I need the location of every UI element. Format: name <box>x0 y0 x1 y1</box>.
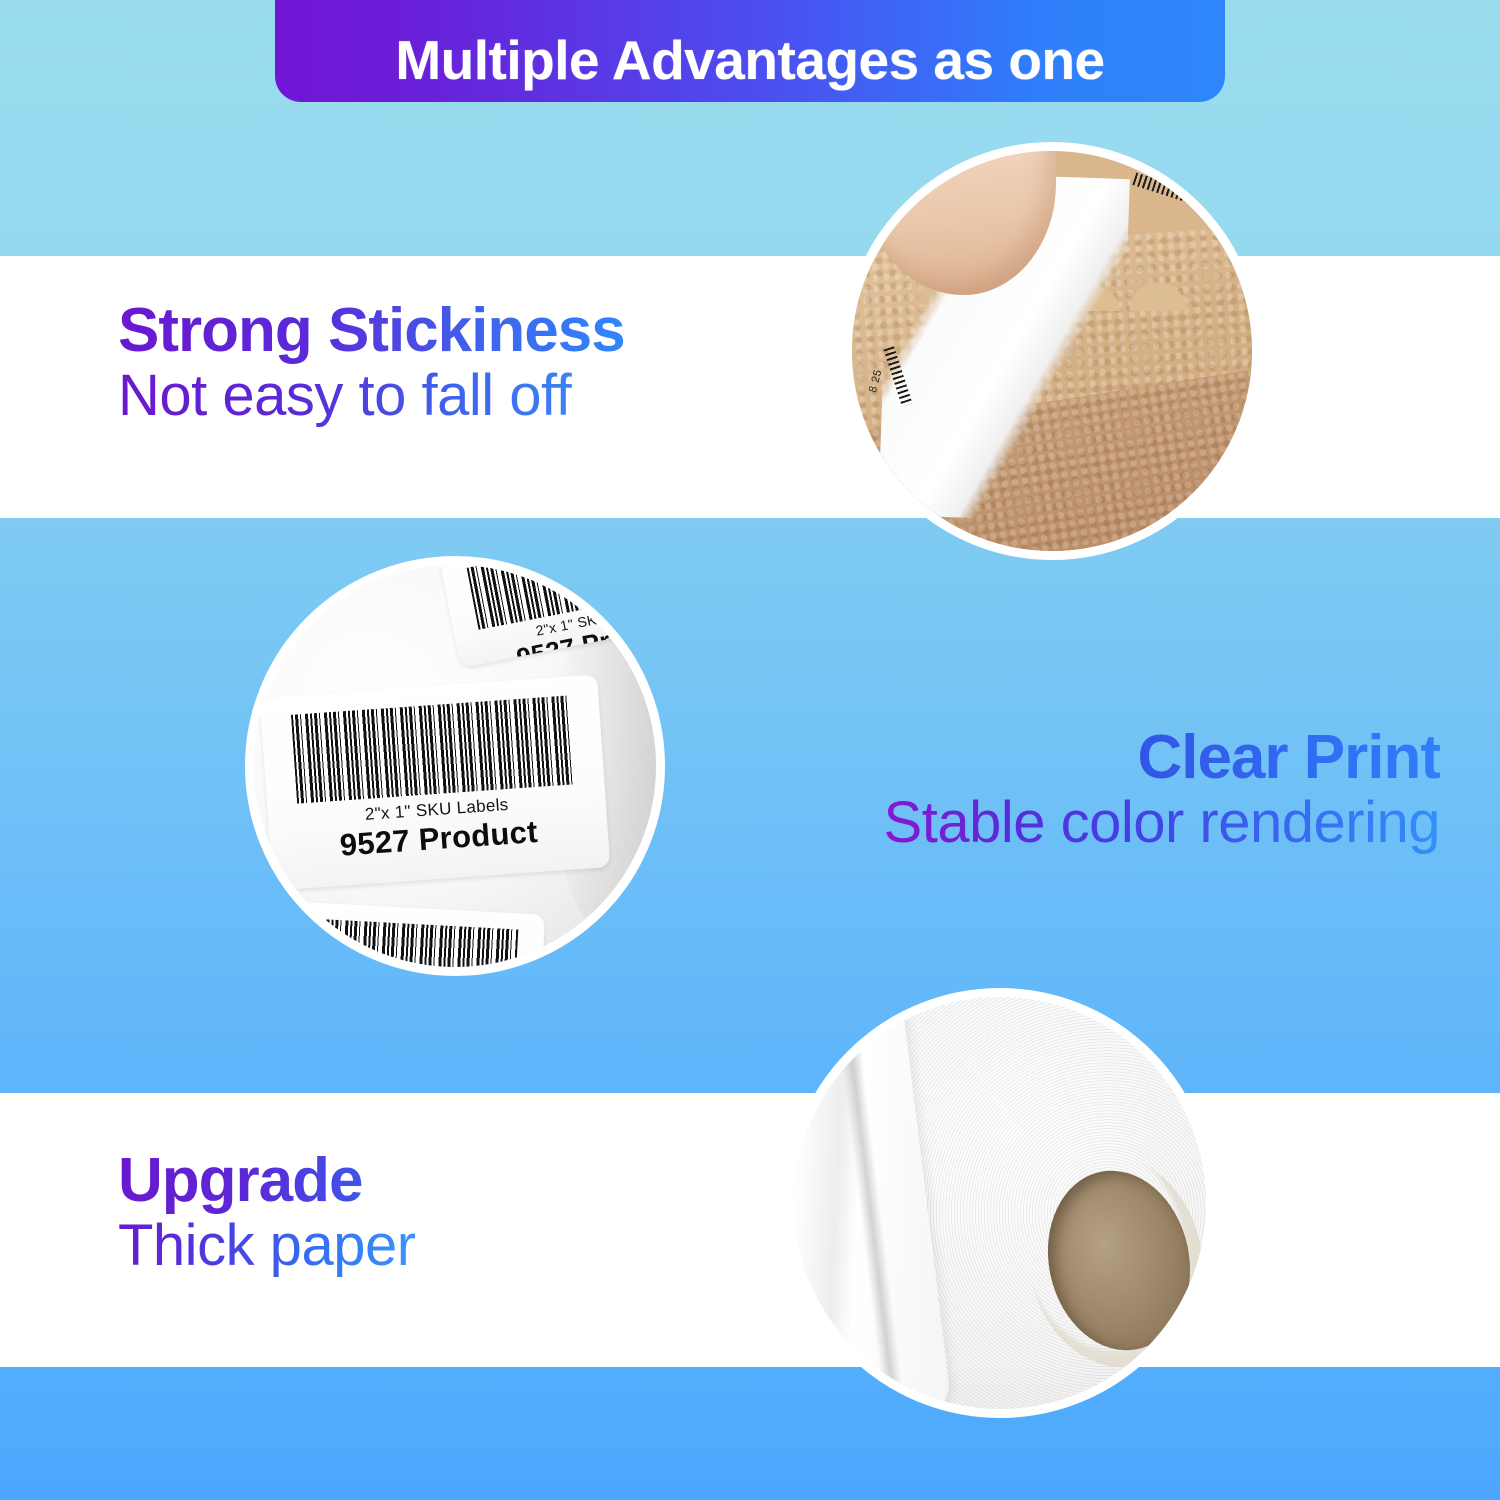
barcode-icon <box>291 695 573 803</box>
feature-subheading-stickiness: Not easy to fall off <box>118 364 625 429</box>
feature-heading-upgrade: Upgrade <box>118 1148 416 1214</box>
thick-paper-roll-photo <box>785 988 1215 1418</box>
peeling-label-cardboard-photo: 8 25 <box>843 142 1261 560</box>
feature-heading-clear-print: Clear Print <box>884 725 1440 791</box>
label-sticker-main: 2"x 1" SKU Labels 9527 Product <box>260 674 610 890</box>
feature-text-stickiness: Strong Stickiness Not easy to fall off <box>118 298 625 429</box>
label-roll-barcode-photo: 2"x 1" SKU Labels 9527 Product 2"x 1" SK… <box>245 556 665 976</box>
feature-text-upgrade: Upgrade Thick paper <box>118 1148 416 1279</box>
feature-subheading-upgrade: Thick paper <box>118 1214 416 1279</box>
product-feature-infographic: Multiple Advantages as one Strong Sticki… <box>0 0 1500 1500</box>
header-banner: Multiple Advantages as one <box>275 0 1225 102</box>
background-band-blue-bottom <box>0 1367 1500 1500</box>
feature-text-clear-print: Clear Print Stable color rendering <box>884 725 1440 856</box>
feature-subheading-clear-print: Stable color rendering <box>884 791 1440 856</box>
feature-heading-stickiness: Strong Stickiness <box>118 298 625 364</box>
page-title: Multiple Advantages as one <box>395 33 1104 88</box>
